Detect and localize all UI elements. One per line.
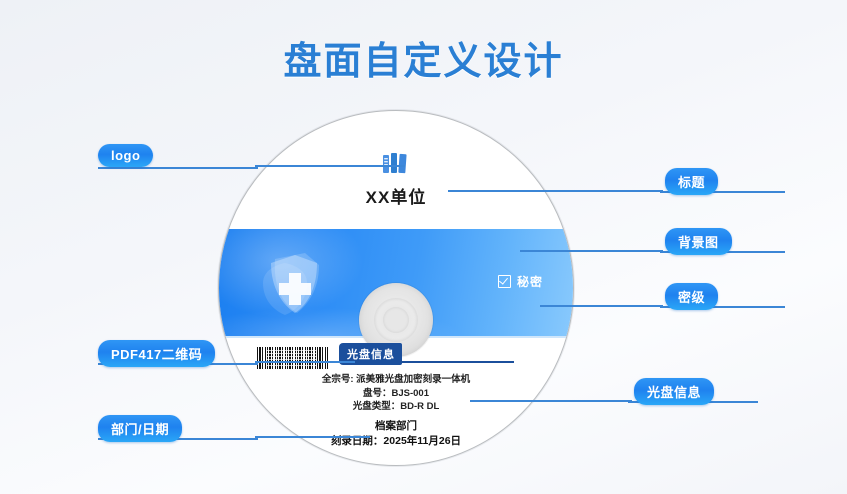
disc-unit-name: XX单位 bbox=[219, 183, 573, 208]
callout-background[interactable]: 背景图 bbox=[665, 228, 732, 255]
callout-pdf417[interactable]: PDF417二维码 bbox=[98, 340, 215, 367]
disc-info-header: 光盘信息 bbox=[339, 343, 514, 363]
pdf417-barcode bbox=[257, 347, 329, 369]
callout-title[interactable]: 标题 bbox=[665, 168, 718, 195]
callout-department-date-leader bbox=[255, 436, 370, 438]
disc-info-tag-rule bbox=[397, 361, 514, 363]
disc-info-lines: 全宗号: 派美雅光盘加密刻录一体机 盘号：BJS-001 光盘类型：BD-R D… bbox=[219, 373, 573, 414]
disc-info-line: 全宗号: 派美雅光盘加密刻录一体机 bbox=[219, 373, 573, 387]
disc-preview[interactable]: XX单位 秘密 bbox=[218, 110, 574, 466]
callout-department-date[interactable]: 部门/日期 bbox=[98, 415, 182, 442]
callout-logo-underline bbox=[98, 167, 258, 169]
callout-security-level[interactable]: 密级 bbox=[665, 283, 718, 310]
security-level-mark[interactable]: 秘密 bbox=[498, 273, 543, 290]
page-title: 盘面自定义设计 bbox=[0, 30, 847, 85]
callout-title-leader bbox=[448, 190, 663, 192]
disc-info-line: 光盘类型：BD-R DL bbox=[219, 400, 573, 414]
poster-stage: 盘面自定义设计 XX单位 bbox=[0, 0, 847, 494]
callout-pdf417-leader bbox=[255, 361, 355, 363]
security-level-label: 秘密 bbox=[517, 273, 543, 290]
callout-disc-info-leader bbox=[470, 400, 632, 402]
check-icon bbox=[498, 275, 511, 288]
callout-disc-info[interactable]: 光盘信息 bbox=[634, 378, 714, 405]
callout-security-level-leader bbox=[540, 305, 663, 307]
callout-logo-leader bbox=[255, 165, 405, 167]
callout-background-leader bbox=[520, 250, 663, 252]
books-icon bbox=[380, 153, 412, 175]
disc-footer-lines: 档案部门 刻录日期：2025年11月26日 bbox=[219, 419, 573, 449]
disc-info-line: 盘号：BJS-001 bbox=[219, 387, 573, 401]
callout-logo[interactable]: logo bbox=[98, 144, 153, 167]
disc-department: 档案部门 bbox=[219, 419, 573, 434]
shield-plus-icon bbox=[255, 243, 329, 323]
